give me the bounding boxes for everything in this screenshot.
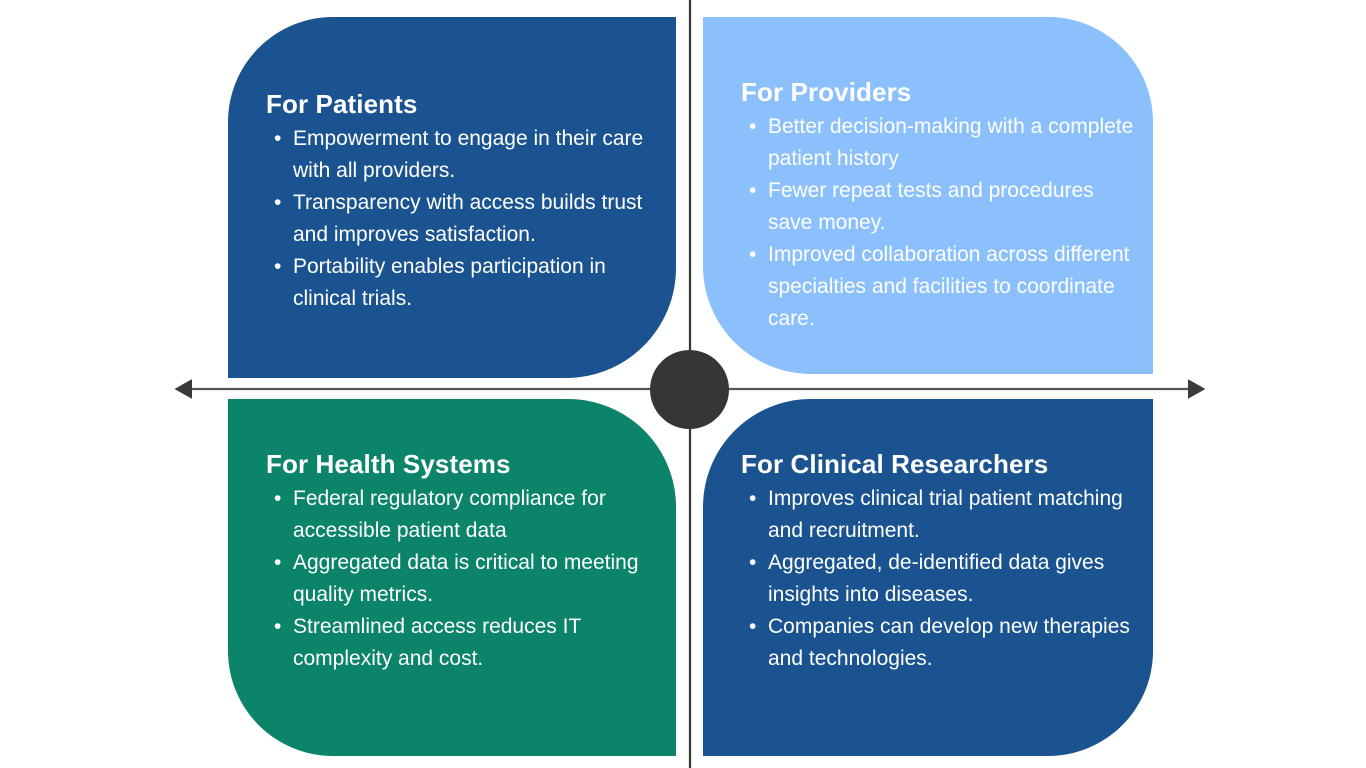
quadrant-content: For Providers • Better decision-making w…	[741, 77, 1143, 335]
list-item-text: Aggregated, de-identified data gives ins…	[768, 551, 1104, 606]
center-hub-circle	[650, 350, 729, 429]
list-item: • Better decision-making with a complete…	[741, 111, 1143, 175]
quadrant-for-clinical-researchers[interactable]: For Clinical Researchers • Improves clin…	[703, 399, 1153, 756]
list-item-text: Federal regulatory compliance for access…	[293, 487, 606, 542]
bullet-icon: •	[749, 547, 756, 579]
quadrant-content: For Health Systems • Federal regulatory …	[266, 449, 666, 675]
quadrant-content: For Clinical Researchers • Improves clin…	[741, 449, 1143, 675]
quadrant-bullet-list-clinical-researchers: • Improves clinical trial patient matchi…	[741, 483, 1143, 675]
quadrant-title-health-systems: For Health Systems	[266, 449, 666, 479]
list-item-text: Streamlined access reduces IT complexity…	[293, 615, 581, 670]
quadrant-bullet-list-health-systems: • Federal regulatory compliance for acce…	[266, 483, 666, 675]
quadrant-diagram: For Patients • Empowerment to engage in …	[0, 0, 1366, 768]
list-item: • Federal regulatory compliance for acce…	[266, 483, 666, 547]
quadrant-title-providers: For Providers	[741, 77, 1143, 107]
list-item: • Companies can develop new therapies an…	[741, 611, 1143, 675]
list-item: • Streamlined access reduces IT complexi…	[266, 611, 666, 675]
list-item-text: Improved collaboration across different …	[768, 243, 1129, 330]
list-item: • Improved collaboration across differen…	[741, 239, 1143, 335]
quadrant-for-health-systems[interactable]: For Health Systems • Federal regulatory …	[228, 399, 676, 756]
list-item: • Aggregated data is critical to meeting…	[266, 547, 666, 611]
bullet-icon: •	[274, 187, 281, 219]
quadrant-bullet-list-providers: • Better decision-making with a complete…	[741, 111, 1143, 335]
list-item: • Empowerment to engage in their care wi…	[266, 123, 666, 187]
list-item-text: Empowerment to engage in their care with…	[293, 127, 643, 182]
bullet-icon: •	[749, 483, 756, 515]
list-item-text: Aggregated data is critical to meeting q…	[293, 551, 639, 606]
list-item-text: Improves clinical trial patient matching…	[768, 487, 1123, 542]
list-item: • Improves clinical trial patient matchi…	[741, 483, 1143, 547]
list-item-text: Portability enables participation in cli…	[293, 255, 606, 310]
quadrant-title-patients: For Patients	[266, 89, 666, 119]
bullet-icon: •	[749, 175, 756, 207]
quadrant-title-clinical-researchers: For Clinical Researchers	[741, 449, 1143, 479]
list-item-text: Companies can develop new therapies and …	[768, 615, 1130, 670]
bullet-icon: •	[749, 111, 756, 143]
quadrant-for-providers[interactable]: For Providers • Better decision-making w…	[703, 17, 1153, 374]
bullet-icon: •	[274, 123, 281, 155]
list-item-text: Fewer repeat tests and procedures save m…	[768, 179, 1094, 234]
list-item-text: Transparency with access builds trust an…	[293, 191, 642, 246]
bullet-icon: •	[274, 483, 281, 515]
bullet-icon: •	[274, 547, 281, 579]
bullet-icon: •	[749, 239, 756, 271]
bullet-icon: •	[274, 251, 281, 283]
list-item: • Aggregated, de-identified data gives i…	[741, 547, 1143, 611]
list-item: • Transparency with access builds trust …	[266, 187, 666, 251]
quadrant-content: For Patients • Empowerment to engage in …	[266, 89, 666, 315]
list-item: • Fewer repeat tests and procedures save…	[741, 175, 1143, 239]
quadrant-bullet-list-patients: • Empowerment to engage in their care wi…	[266, 123, 666, 315]
quadrant-for-patients[interactable]: For Patients • Empowerment to engage in …	[228, 17, 676, 378]
bullet-icon: •	[274, 611, 281, 643]
bullet-icon: •	[749, 611, 756, 643]
list-item: • Portability enables participation in c…	[266, 251, 666, 315]
list-item-text: Better decision-making with a complete p…	[768, 115, 1133, 170]
